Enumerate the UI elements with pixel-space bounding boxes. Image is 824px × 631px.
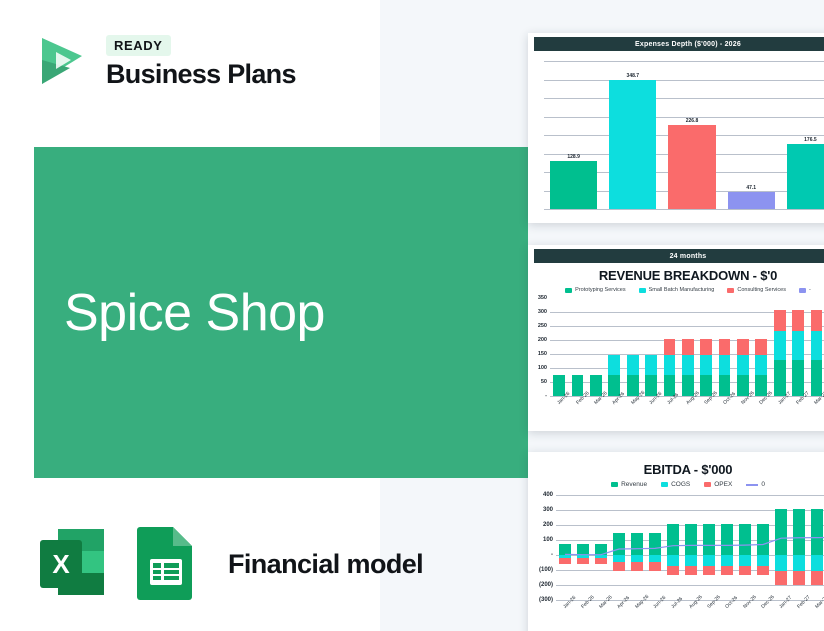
- bar-segment: [719, 339, 731, 356]
- y-axis-tick: 100: [543, 537, 553, 543]
- y-axis-tick: 300: [538, 309, 547, 315]
- footer-row: X Financial model: [32, 521, 423, 608]
- bar-segment: [645, 355, 657, 375]
- revenue-chart-title: REVENUE BREAKDOWN - $'0: [528, 263, 824, 285]
- revenue-plot-area: 35030025020015010050-Jan-26Feb-26Mar-26A…: [550, 298, 824, 396]
- y-axis-tick: 150: [538, 351, 547, 357]
- ready-badge: READY: [106, 35, 171, 56]
- ebitda-zero-line: [556, 495, 824, 600]
- y-axis-tick: 300: [543, 507, 553, 513]
- legend-label: OPEX: [714, 481, 732, 488]
- bar: [668, 125, 715, 209]
- bar-segment: [682, 355, 694, 375]
- bar-value-label: 176.5: [804, 137, 817, 143]
- legend-label: Consulting Services: [737, 287, 786, 293]
- legend-item: Small Batch Manufacturing: [639, 287, 715, 293]
- chart-card-expenses: Expenses Depth ($'000) - 2026 128.9348.7…: [528, 33, 824, 223]
- bar-segment: [608, 355, 620, 375]
- bar-segment: [792, 310, 804, 330]
- bar-segment: [682, 375, 694, 396]
- ebitda-plot-area: 400300200100-(100)(200)(300)Jan-26Feb-26…: [556, 495, 824, 600]
- ebitda-chart-title: EBITDA - $'000: [528, 452, 824, 479]
- page-title: Spice Shop: [64, 287, 325, 339]
- bar: [550, 161, 597, 209]
- play-triangle-logo-icon: [30, 30, 92, 92]
- y-axis-tick: -: [545, 393, 547, 399]
- bar-segment: [755, 355, 767, 375]
- y-axis-tick: 50: [541, 379, 547, 385]
- legend-swatch: [799, 288, 806, 293]
- legend-swatch: [611, 482, 618, 487]
- legend-label: -: [809, 287, 811, 293]
- bar: [787, 144, 824, 209]
- legend-item: Revenue: [611, 481, 647, 488]
- bar-segment: [737, 355, 749, 375]
- legend-item: 0: [746, 481, 765, 488]
- legend-label: Prototyping Services: [575, 287, 625, 293]
- gridline: [544, 209, 824, 210]
- financial-model-label: Financial model: [228, 549, 423, 580]
- y-axis-tick: 400: [543, 492, 553, 498]
- legend-label: Small Batch Manufacturing: [649, 287, 715, 293]
- legend-swatch: [661, 482, 668, 487]
- bar: [609, 80, 656, 209]
- slide-root: READY Business Plans Spice Shop X: [0, 0, 824, 631]
- legend-swatch: [746, 484, 758, 486]
- ebitda-legend: RevenueCOGSOPEX0: [528, 479, 824, 491]
- y-axis-tick: 350: [538, 295, 547, 301]
- y-axis-tick: (300): [539, 597, 553, 603]
- legend-swatch: [704, 482, 711, 487]
- bar-value-label: 226.8: [686, 118, 699, 124]
- revenue-period-band: 24 months: [534, 249, 824, 263]
- legend-swatch: [565, 288, 572, 293]
- legend-swatch: [639, 288, 646, 293]
- legend-item: OPEX: [704, 481, 732, 488]
- legend-item: Consulting Services: [727, 287, 786, 293]
- chart-card-revenue: 24 months REVENUE BREAKDOWN - $'0 Protot…: [528, 245, 824, 431]
- bar-segment: [774, 331, 786, 360]
- bar-segment: [755, 339, 767, 356]
- bar-segment: [700, 339, 712, 356]
- hero-banner: Spice Shop: [34, 147, 528, 478]
- legend-label: Revenue: [621, 481, 647, 488]
- bar-segment: [572, 375, 584, 396]
- legend-item: Prototyping Services: [565, 287, 625, 293]
- revenue-legend: Prototyping ServicesSmall Batch Manufact…: [528, 285, 824, 296]
- bar-segment: [664, 355, 676, 375]
- google-sheets-icon: [130, 521, 202, 608]
- expenses-plot-area: 128.9348.7226.847.1176.5: [544, 61, 824, 209]
- bar: [728, 192, 775, 209]
- brand-name: Business Plans: [106, 60, 296, 88]
- bar-segment: [792, 360, 804, 396]
- y-axis-tick: 200: [543, 522, 553, 528]
- bar-segment: [811, 331, 823, 360]
- bar-segment: [792, 331, 804, 360]
- expenses-chart-title: Expenses Depth ($'000) - 2026: [534, 37, 824, 51]
- chart-card-ebitda: EBITDA - $'000 RevenueCOGSOPEX0 40030020…: [528, 452, 824, 631]
- bar-segment: [627, 375, 639, 396]
- bar-value-label: 348.7: [627, 73, 640, 79]
- y-axis-tick: -: [551, 552, 553, 558]
- bar-value-label: 128.9: [567, 154, 580, 160]
- bar-segment: [737, 339, 749, 356]
- bar-segment: [719, 355, 731, 375]
- y-axis-tick: 100: [538, 365, 547, 371]
- bar-segment: [811, 360, 823, 396]
- bar-segment: [700, 355, 712, 375]
- y-axis-tick: 200: [538, 337, 547, 343]
- bar-segment: [664, 339, 676, 356]
- gridline: [544, 117, 824, 118]
- y-axis-tick: 250: [538, 323, 547, 329]
- bar-segment: [682, 339, 694, 356]
- bar-segment: [627, 355, 639, 375]
- y-axis-tick: (100): [539, 567, 553, 573]
- bar-segment: [774, 360, 786, 396]
- bar-segment: [719, 375, 731, 396]
- microsoft-excel-icon: X: [32, 521, 114, 608]
- y-axis-tick: (200): [539, 582, 553, 588]
- svg-text:X: X: [52, 549, 70, 579]
- gridline: [544, 98, 824, 99]
- bar-segment: [774, 310, 786, 330]
- gridline: [544, 80, 824, 81]
- legend-swatch: [727, 288, 734, 293]
- legend-item: COGS: [661, 481, 690, 488]
- brand-logo: READY Business Plans: [30, 30, 296, 92]
- bar-segment: [811, 310, 823, 330]
- legend-label: COGS: [671, 481, 690, 488]
- gridline: [544, 61, 824, 62]
- bar-value-label: 47.1: [746, 185, 756, 191]
- legend-item: -: [799, 287, 811, 293]
- legend-label: 0: [761, 481, 765, 488]
